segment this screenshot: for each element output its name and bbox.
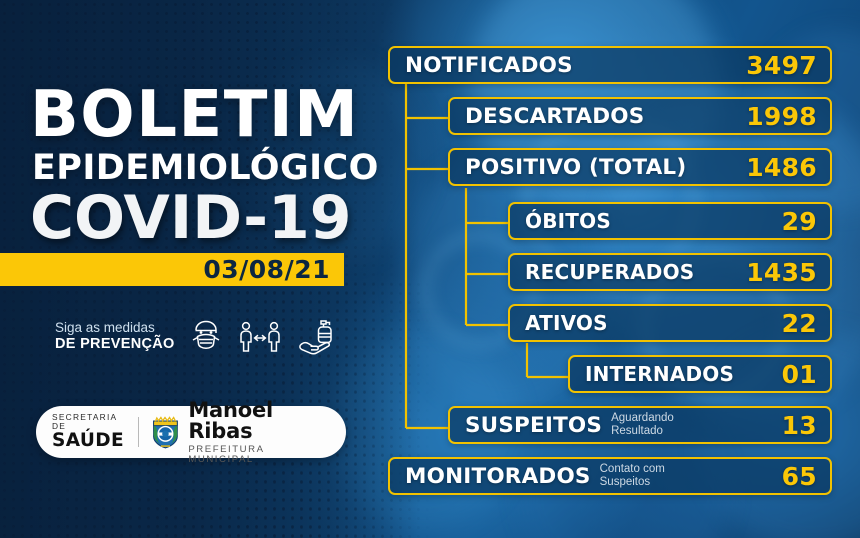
stat-label: SUSPEITOS	[465, 413, 602, 438]
stat-label: NOTIFICADOS	[405, 53, 573, 78]
stat-label: MONITORADOS	[405, 464, 591, 489]
stat-value: 1486	[746, 153, 817, 182]
stat-row-notificados[interactable]: NOTIFICADOS 3497	[388, 46, 832, 84]
stat-row-positivo[interactable]: POSITIVO (TOTAL) 1486	[448, 148, 832, 186]
stat-row-ativos[interactable]: ATIVOS 22	[508, 304, 832, 342]
stat-row-recuperados[interactable]: RECUPERADOS 1435	[508, 253, 832, 291]
stat-value: 3497	[746, 51, 817, 80]
stat-label: ATIVOS	[525, 311, 608, 335]
stat-value: 22	[782, 309, 817, 338]
stat-label: RECUPERADOS	[525, 260, 694, 284]
stat-label: ÓBITOS	[525, 209, 611, 233]
stat-value: 1435	[746, 258, 817, 287]
stat-value: 65	[782, 462, 817, 491]
stat-row-obitos[interactable]: ÓBITOS 29	[508, 202, 832, 240]
stat-row-monitorados[interactable]: MONITORADOS Contato com Suspeitos 65	[388, 457, 832, 495]
stat-row-descartados[interactable]: DESCARTADOS 1998	[448, 97, 832, 135]
stat-value: 13	[782, 411, 817, 440]
stat-label: POSITIVO (TOTAL)	[465, 155, 686, 180]
stat-value: 29	[782, 207, 817, 236]
stat-value: 1998	[746, 102, 817, 131]
stat-subtitle: Aguardando Resultado	[611, 412, 674, 437]
stat-label: DESCARTADOS	[465, 104, 644, 129]
stat-row-internados[interactable]: INTERNADOS 01	[568, 355, 832, 393]
statistics-panel: NOTIFICADOS 3497 DESCARTADOS 1998 POSITI…	[0, 0, 860, 538]
stat-label: INTERNADOS	[585, 362, 734, 386]
stat-subtitle: Contato com Suspeitos	[600, 463, 665, 488]
stat-row-suspeitos[interactable]: SUSPEITOS Aguardando Resultado 13	[448, 406, 832, 444]
stat-value: 01	[782, 360, 817, 389]
